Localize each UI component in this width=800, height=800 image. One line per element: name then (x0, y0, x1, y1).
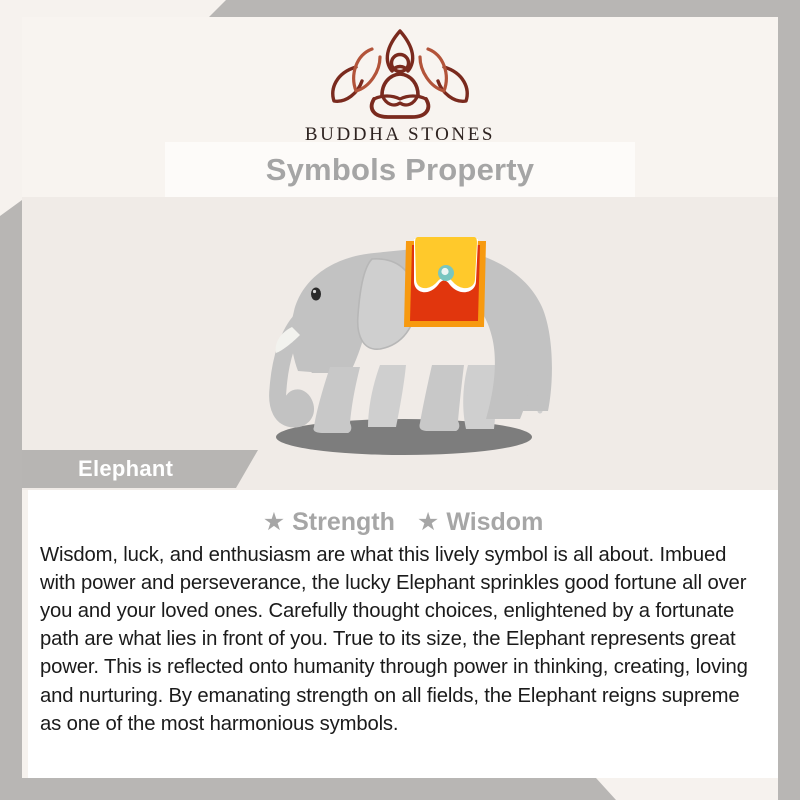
symbol-name: Elephant (78, 456, 173, 482)
symbols-property-card: BUDDHA STONES Symbols Property (0, 0, 800, 800)
frame-band-bottom (0, 778, 800, 800)
elephant-eye (311, 288, 321, 301)
page-title: Symbols Property (266, 152, 535, 188)
star-icon: ★ (417, 510, 439, 535)
blanket-jewel-center (441, 268, 448, 275)
symbol-name-tab: Elephant (22, 450, 258, 488)
walking-elephant-illustration (254, 215, 566, 471)
elephant-eye-highlight (313, 290, 316, 293)
trait-list: ★ Strength ★ Wisdom (28, 490, 778, 537)
trait-strength-label: Strength (292, 508, 395, 537)
trait-wisdom-label: Wisdom (446, 508, 543, 537)
star-icon: ★ (263, 510, 285, 535)
description-panel: ★ Strength ★ Wisdom Wisdom, luck, and en… (28, 490, 778, 778)
symbol-description: Wisdom, luck, and enthusiasm are what th… (40, 541, 766, 738)
frame-band-left (0, 200, 22, 800)
frame-band-right (778, 0, 800, 800)
brand-logo: BUDDHA STONES (22, 21, 778, 146)
trait-strength: ★ Strength (263, 508, 395, 537)
illustration-stage (22, 197, 778, 490)
lotus-meditation-figure-icon (300, 21, 500, 121)
trait-wisdom: ★ Wisdom (417, 508, 543, 537)
title-band: Symbols Property (165, 142, 635, 197)
